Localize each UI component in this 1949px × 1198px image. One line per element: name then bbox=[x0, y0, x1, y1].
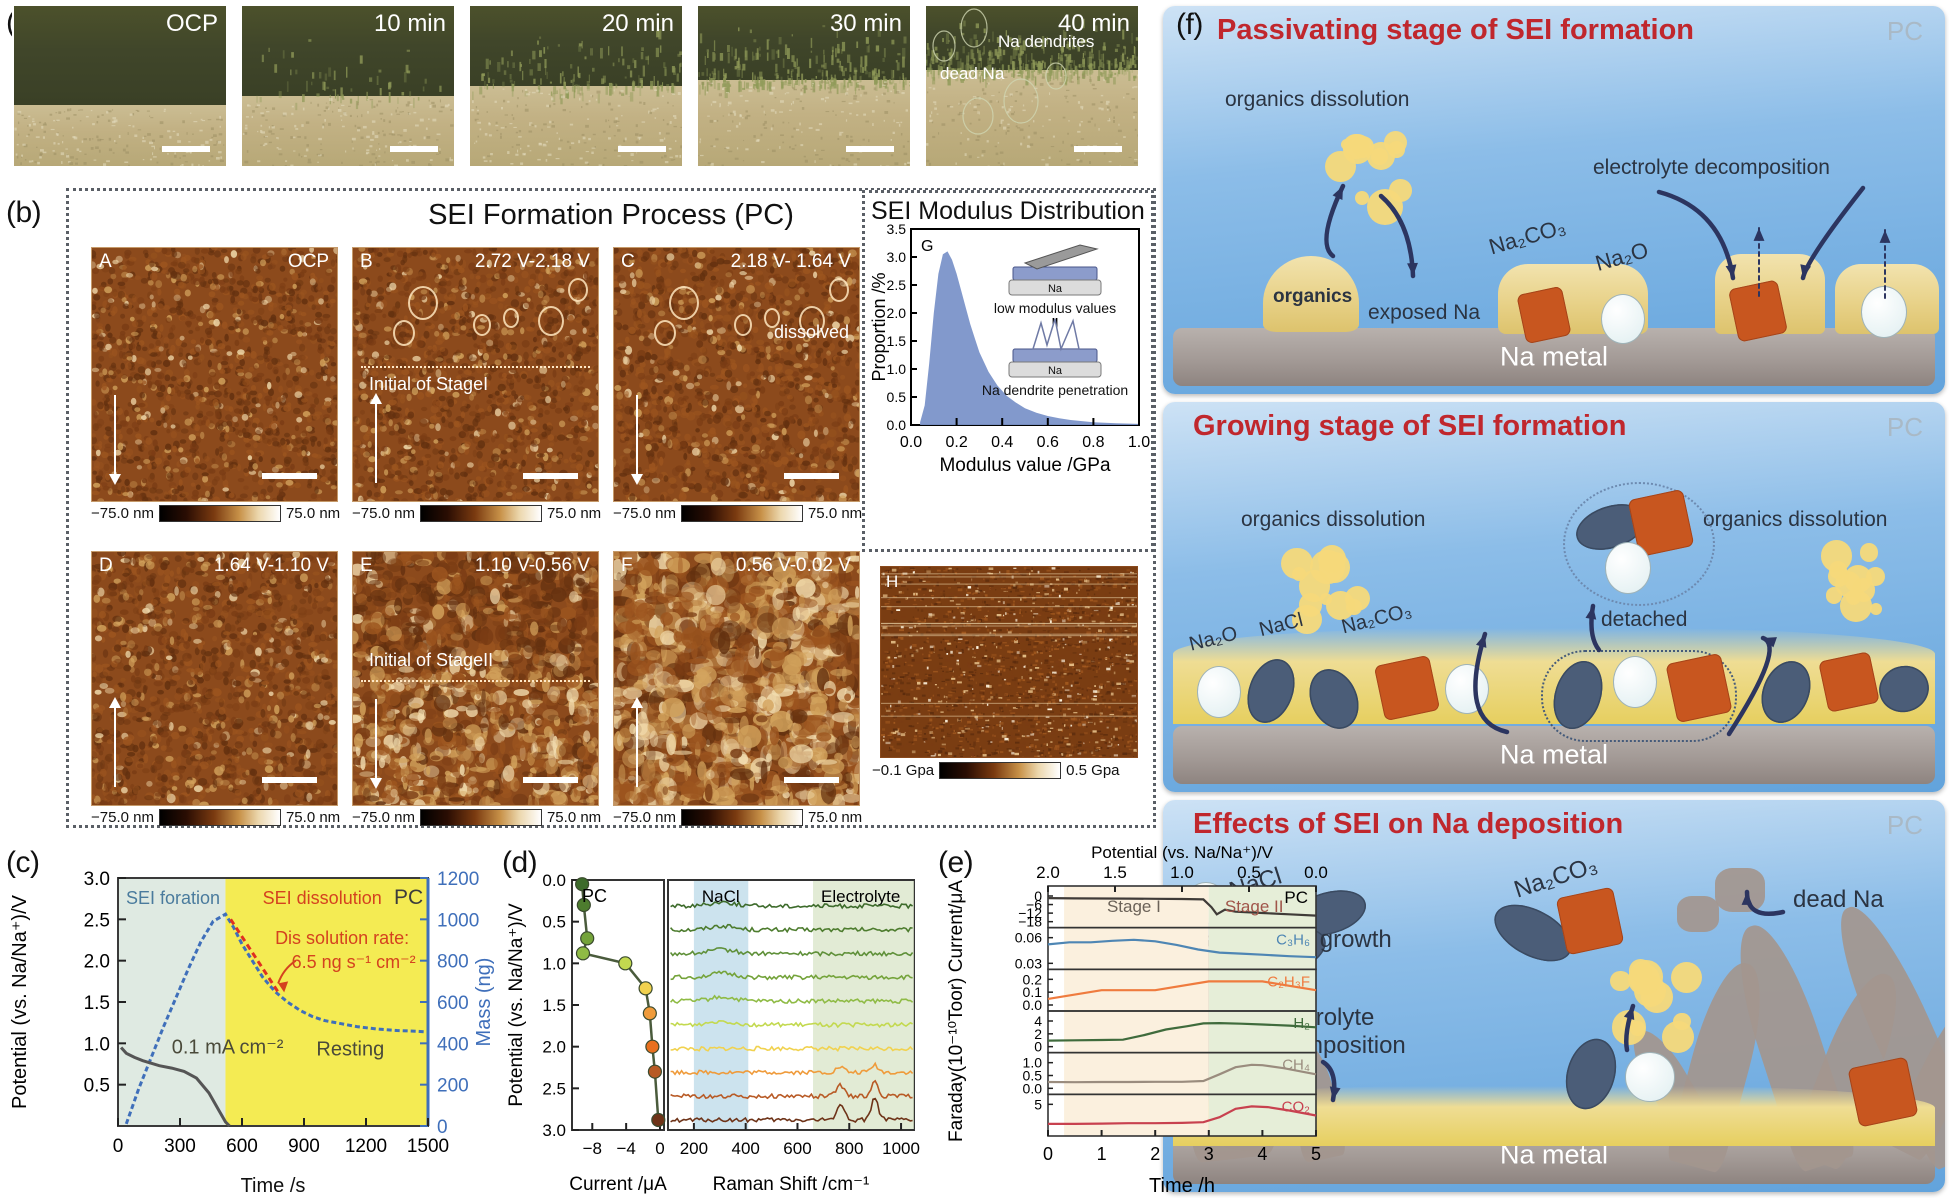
afm-scale-bar-C bbox=[784, 473, 839, 479]
dead-na-clump-2b bbox=[1677, 896, 1719, 932]
panel-b-letter: (b) bbox=[6, 196, 41, 230]
colorbar-max-F: 75.0 nm bbox=[808, 809, 862, 826]
colorbar-min-A: −75.0 nm bbox=[91, 505, 154, 522]
optical-frame-label-1: 10 min bbox=[374, 10, 446, 38]
panel-a-optical-strip: OCP10 min20 min30 min40 minNa dendritesd… bbox=[12, 4, 1152, 172]
na2o-particle-0c bbox=[1861, 286, 1907, 338]
scale-bar-2 bbox=[618, 146, 666, 152]
colorbar-gradient-B bbox=[420, 505, 542, 522]
afm-label-B: B bbox=[360, 251, 373, 273]
afm-voltage-D: 1.64 V-1.10 V bbox=[214, 555, 329, 577]
afm-scale-bar-B bbox=[523, 473, 578, 479]
na-metal-bar-1: Na metal bbox=[1173, 726, 1935, 784]
highlight-circle-B-5 bbox=[503, 308, 519, 328]
afm-label-A: A bbox=[99, 251, 112, 273]
chart-d-cv-raman: 0.00.51.01.52.02.53.00−4−8PCNaClElectrol… bbox=[500, 840, 940, 1198]
label-na2co3-0: Na₂CO₃ bbox=[1486, 214, 1569, 261]
schematic-pc-0: PC bbox=[1887, 16, 1923, 47]
afm-image-C: C2.18 V- 1.64 Vdissolved bbox=[613, 247, 860, 502]
detached-na2o-1 bbox=[1605, 542, 1651, 594]
afm-colorbar-A: −75.0 nm75.0 nm bbox=[91, 505, 340, 522]
chart-e-ms-current: 0−6−12−180.060.03C₃H₆0.20.10.0C₂H₃F420H₂… bbox=[936, 840, 1356, 1198]
organics-bubble-1b-7 bbox=[1866, 567, 1885, 586]
highlight-circle-B-4 bbox=[568, 278, 588, 302]
na2o-particle-0 bbox=[1601, 294, 1645, 344]
afm-colorbar-E: −75.0 nm75.0 nm bbox=[352, 809, 601, 826]
label-electrolyte-decomposition-0: electrolyte decomposition bbox=[1593, 156, 1830, 180]
colorbar-min-B: −75.0 nm bbox=[352, 505, 415, 522]
modulus-colorbar-gradient bbox=[939, 762, 1061, 779]
afm-label-E: E bbox=[360, 555, 373, 577]
afm-note-E: Initial of StageII bbox=[369, 650, 493, 671]
na2co3-particle-0 bbox=[1516, 286, 1571, 344]
afm-image-A: AOCP bbox=[91, 247, 338, 502]
modulus-map-colorbar: −0.1 Gpa0.5 Gpa bbox=[872, 762, 1120, 779]
panel-f-letter: (f) bbox=[1176, 8, 1203, 42]
afm-scale-bar-E bbox=[523, 777, 578, 783]
organics-bubble-1b-11 bbox=[1846, 590, 1861, 605]
highlight-circle-C-4 bbox=[829, 278, 849, 302]
dead-na-clump-2a bbox=[1715, 868, 1765, 912]
afm-voltage-C: 2.18 V- 1.64 V bbox=[731, 251, 851, 273]
na2co3-particle-2b bbox=[1847, 1056, 1918, 1127]
optical-frame-label-0: OCP bbox=[166, 10, 218, 38]
afm-image-E: E1.10 V-0.56 VInitial of StageII bbox=[352, 551, 599, 806]
colorbar-min-E: −75.0 nm bbox=[352, 809, 415, 826]
colorbar-max-D: 75.0 nm bbox=[286, 809, 340, 826]
afm-scale-bar-D bbox=[262, 777, 317, 783]
afm-colorbar-C: −75.0 nm75.0 nm bbox=[613, 505, 862, 522]
colorbar-min-F: −75.0 nm bbox=[613, 809, 676, 826]
schematic-pc-1: PC bbox=[1887, 412, 1923, 443]
schematic-title-0: Passivating stage of SEI formation bbox=[1217, 14, 1694, 47]
highlight-circle-C-3 bbox=[654, 320, 676, 346]
organics-bubble-2-1 bbox=[1673, 1013, 1691, 1031]
highlight-circle-C-1 bbox=[734, 314, 752, 336]
afm-colorbar-D: −75.0 nm75.0 nm bbox=[91, 809, 340, 826]
organics-bubble-1a-8 bbox=[1318, 545, 1346, 573]
scan-direction-arrow-F bbox=[636, 699, 638, 787]
modulus-map-label-H: H bbox=[886, 572, 898, 592]
label-exposed-na-0: exposed Na bbox=[1368, 301, 1480, 325]
afm-scale-bar-F bbox=[784, 777, 839, 783]
scan-direction-arrow-E bbox=[375, 699, 377, 787]
scan-direction-arrow-B bbox=[375, 395, 377, 483]
colorbar-gradient-D bbox=[159, 809, 281, 826]
highlight-circle-C-0 bbox=[669, 286, 699, 320]
na2co3-particle-1 bbox=[1374, 655, 1440, 721]
modulus-colorbar-min: −0.1 Gpa bbox=[872, 762, 934, 779]
optical-frame-0: OCP bbox=[12, 4, 228, 168]
colorbar-gradient-C bbox=[681, 505, 803, 522]
afm-note-C: dissolved bbox=[774, 322, 849, 343]
colorbar-max-C: 75.0 nm bbox=[808, 505, 862, 522]
na2o-particle-1c bbox=[1613, 656, 1657, 708]
scale-bar-1 bbox=[390, 146, 438, 152]
na2o-particle-1 bbox=[1197, 666, 1241, 718]
colorbar-min-D: −75.0 nm bbox=[91, 809, 154, 826]
highlight-circle-B-2 bbox=[538, 306, 564, 336]
colorbar-gradient-F bbox=[681, 809, 803, 826]
afm-image-F: F0.56 V-0.02 V bbox=[613, 551, 860, 806]
schematic-title-1: Growing stage of SEI formation bbox=[1193, 410, 1626, 443]
organics-bubble-0-6 bbox=[1367, 189, 1403, 225]
organics-bubble-1b-10 bbox=[1860, 543, 1879, 562]
organics-bubble-1a-5 bbox=[1292, 567, 1306, 581]
chart-c-potential-mass: 0.51.01.52.02.53.00200400600800100012000… bbox=[0, 840, 500, 1198]
na2co3-particle-1c bbox=[1818, 651, 1880, 713]
colorbar-gradient-E bbox=[420, 809, 542, 826]
modulus-map-H bbox=[880, 566, 1138, 758]
afm-label-C: C bbox=[621, 251, 635, 273]
scale-bar-4 bbox=[1074, 146, 1122, 152]
colorbar-max-B: 75.0 nm bbox=[547, 505, 601, 522]
na2o-particle-1b bbox=[1445, 664, 1489, 714]
colorbar-min-C: −75.0 nm bbox=[613, 505, 676, 522]
na2o-particle-2b bbox=[1625, 1052, 1675, 1102]
modulus-distribution-box: SEI Modulus Distribution 0.00.51.01.52.0… bbox=[862, 190, 1154, 552]
afm-scale-bar-A bbox=[262, 473, 317, 479]
label-organics-dissolution-0: organics dissolution bbox=[1225, 88, 1409, 112]
organics-bubble-2-5 bbox=[1671, 962, 1702, 993]
na2co3-particle-2 bbox=[1556, 887, 1625, 956]
optical-frame-label-2: 20 min bbox=[602, 10, 674, 38]
colorbar-max-A: 75.0 nm bbox=[286, 505, 340, 522]
afm-colorbar-B: −75.0 nm75.0 nm bbox=[352, 505, 601, 522]
afm-colorbar-F: −75.0 nm75.0 nm bbox=[613, 809, 862, 826]
na2co3-particle-0b bbox=[1728, 279, 1788, 342]
scale-bar-3 bbox=[846, 146, 894, 152]
annotation-na-dendrites: Na dendrites bbox=[998, 32, 1094, 52]
organics-bubble-0-9 bbox=[1325, 151, 1356, 182]
colorbar-max-E: 75.0 nm bbox=[547, 809, 601, 826]
organics-bubble-2-11 bbox=[1628, 964, 1660, 996]
afm-image-D: D1.64 V-1.10 V bbox=[91, 551, 338, 806]
organics-bubble-0-10 bbox=[1388, 141, 1405, 158]
scan-direction-arrow-C bbox=[636, 395, 638, 483]
optical-frame-4: 40 minNa dendritesdead Na bbox=[924, 4, 1140, 168]
schematic-title-2: Effects of SEI on Na deposition bbox=[1193, 808, 1623, 841]
label-dead-na-2: dead Na bbox=[1793, 886, 1884, 914]
optical-frame-label-3: 30 min bbox=[830, 10, 902, 38]
afm-label-D: D bbox=[99, 555, 113, 577]
afm-voltage-B: 2.72 V-2.18 V bbox=[475, 251, 590, 273]
stage-divider-E bbox=[361, 680, 590, 682]
afm-image-B: B2.72 V-2.18 VInitial of StageI bbox=[352, 247, 599, 502]
highlight-circle-B-0 bbox=[408, 286, 438, 320]
organics-bubble-2-10 bbox=[1621, 1018, 1635, 1032]
scan-direction-arrow-D bbox=[114, 699, 116, 787]
schematic-passivating-stage: Passivating stage of SEI formation PC Na… bbox=[1163, 6, 1945, 394]
colorbar-gradient-A bbox=[159, 505, 281, 522]
schematic-growing-stage: Growing stage of SEI formation PC Na met… bbox=[1163, 402, 1945, 792]
label-organics-dissolution-1b: organics dissolution bbox=[1703, 508, 1887, 532]
stage-divider-B bbox=[361, 366, 590, 368]
optical-frame-2: 20 min bbox=[468, 4, 684, 168]
highlight-circle-B-3 bbox=[393, 320, 415, 346]
na2co3-particle-1b bbox=[1665, 653, 1732, 723]
highlight-circle-B-1 bbox=[473, 314, 491, 336]
afm-voltage-E: 1.10 V-0.56 V bbox=[475, 555, 590, 577]
na-metal-label-1: Na metal bbox=[1173, 740, 1935, 771]
optical-frame-3: 30 min bbox=[696, 4, 912, 168]
modulus-colorbar-max: 0.5 Gpa bbox=[1066, 762, 1119, 779]
afm-label-F: F bbox=[621, 555, 633, 577]
scale-bar-0 bbox=[162, 146, 210, 152]
afm-voltage-A: OCP bbox=[288, 251, 329, 273]
na-metal-label-0: Na metal bbox=[1173, 342, 1935, 373]
label-organics-dissolution-1a: organics dissolution bbox=[1241, 508, 1425, 532]
afm-note-B: Initial of StageI bbox=[369, 374, 488, 395]
optical-frame-1: 10 min bbox=[240, 4, 456, 168]
annotation-dead-na: dead Na bbox=[940, 64, 1004, 84]
scan-direction-arrow-A bbox=[114, 395, 116, 483]
schematic-pc-2: PC bbox=[1887, 810, 1923, 841]
afm-voltage-F: 0.56 V-0.02 V bbox=[736, 555, 851, 577]
label-organics-0: organics bbox=[1273, 286, 1352, 308]
